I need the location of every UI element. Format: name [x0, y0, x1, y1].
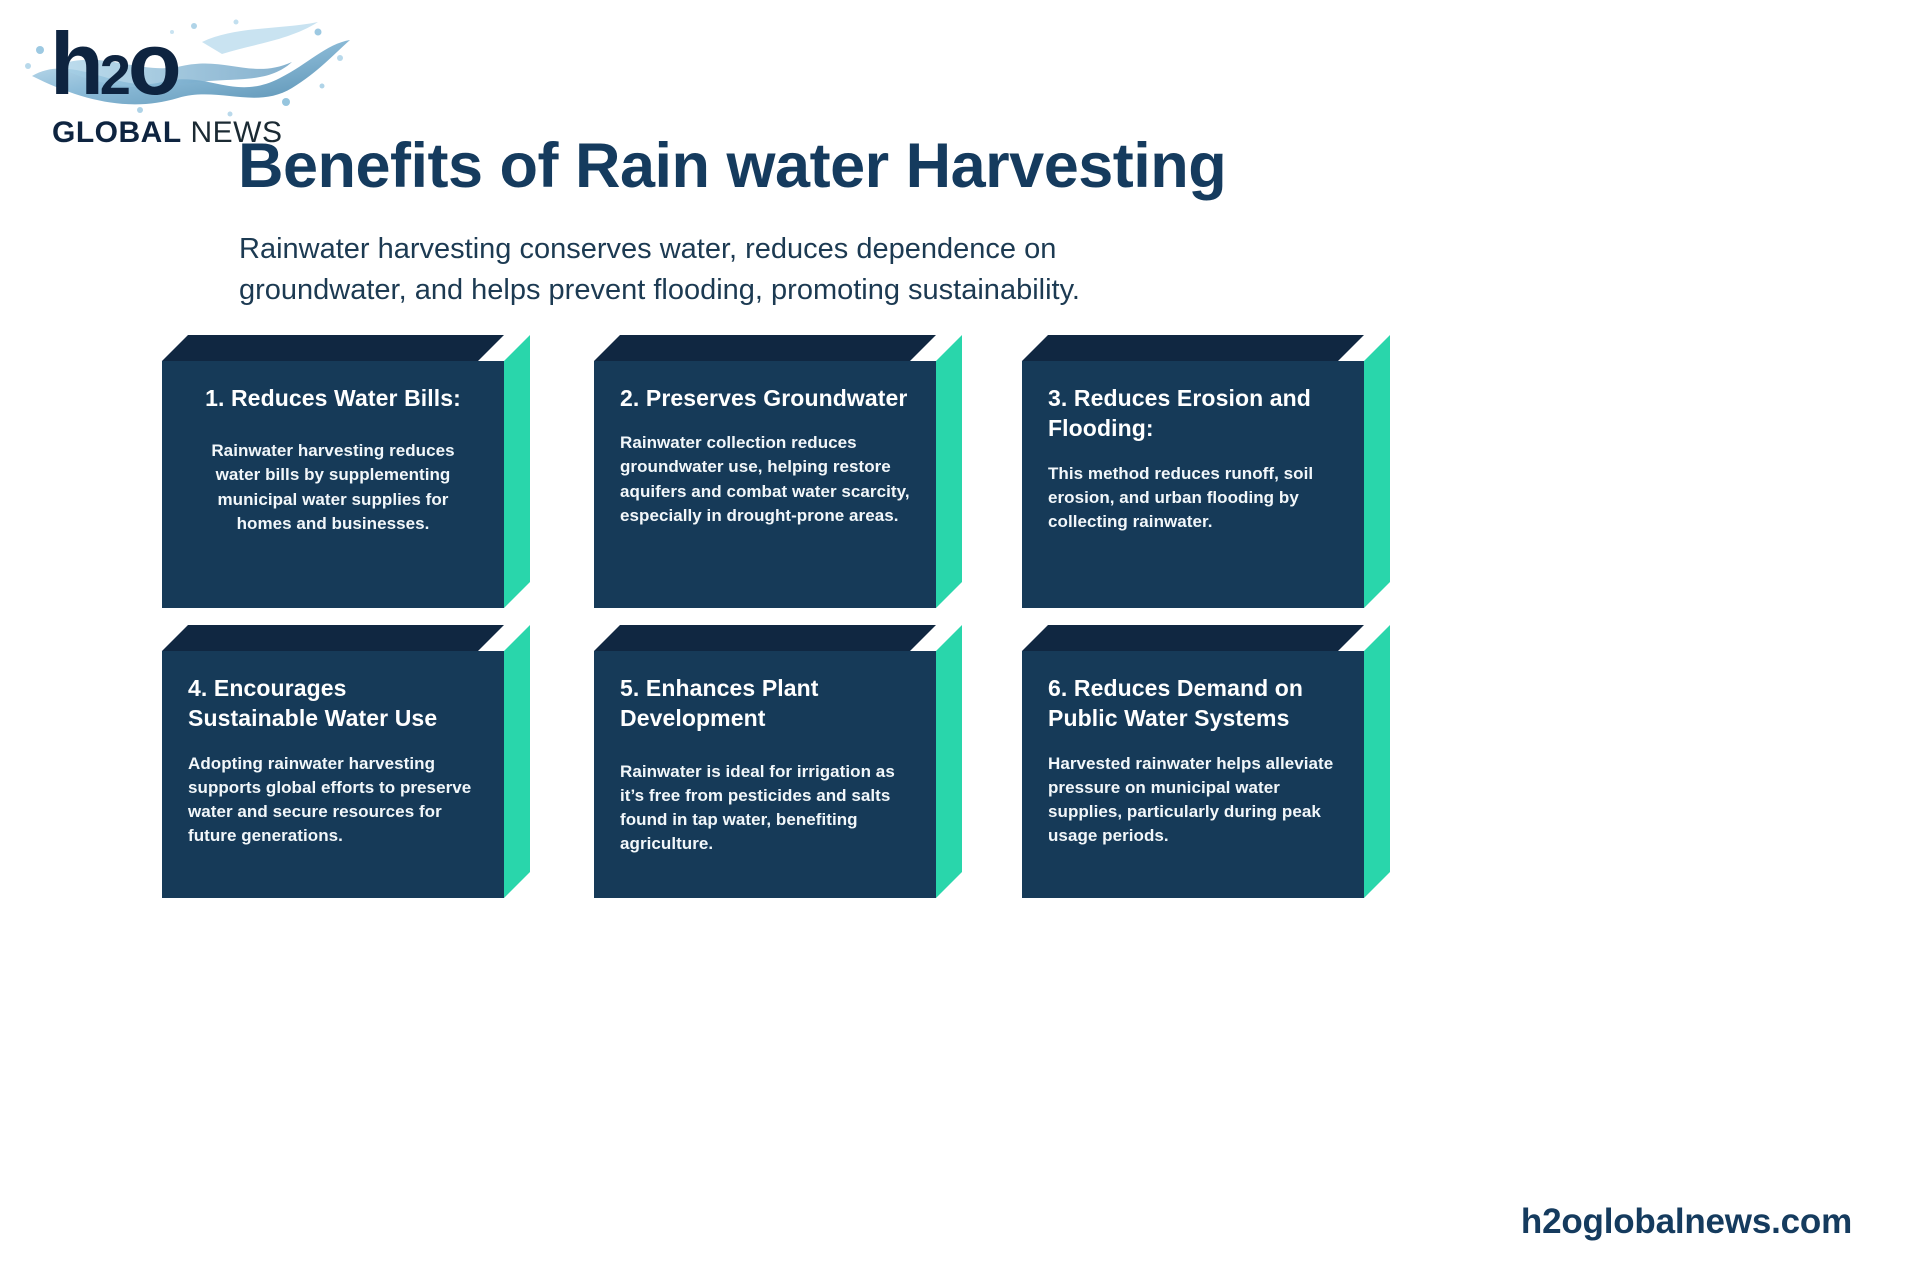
logo-letter-h: h	[50, 14, 100, 113]
card-side-accent	[504, 625, 530, 898]
card-top-bevel	[162, 335, 504, 361]
card-side-accent	[936, 625, 962, 898]
card-title: 2. Preserves Groundwater	[620, 383, 910, 413]
page-title: Benefits of Rain water Harvesting	[238, 131, 1488, 202]
card-title: 4. Encourages Sustainable Water Use	[188, 673, 478, 734]
card-body: Adopting rainwater harvesting supports g…	[188, 752, 478, 849]
card-face: 4. Encourages Sustainable Water Use Adop…	[162, 651, 504, 898]
card-top-bevel	[594, 625, 936, 651]
card-face: 3. Reduces Erosion and Flooding: This me…	[1022, 361, 1364, 608]
card-side-accent	[1364, 625, 1390, 898]
card-title: 1. Reduces Water Bills:	[188, 383, 478, 413]
card-top-bevel	[1022, 625, 1364, 651]
card-title: 3. Reduces Erosion and Flooding:	[1048, 383, 1338, 444]
card-side-accent	[504, 335, 530, 608]
card-body: Harvested rainwater helps alleviate pres…	[1048, 752, 1338, 849]
card-body: Rainwater is ideal for irrigation as it’…	[620, 760, 910, 857]
page-subtitle: Rainwater harvesting conserves water, re…	[239, 229, 1199, 311]
card-body: This method reduces runoff, soil erosion…	[1048, 462, 1338, 534]
card-side-accent	[1364, 335, 1390, 608]
card-face: 6. Reduces Demand on Public Water System…	[1022, 651, 1364, 898]
card-face: 2. Preserves Groundwater Rainwater colle…	[594, 361, 936, 608]
card-face: 1. Reduces Water Bills: Rainwater harves…	[162, 361, 504, 608]
card-side-accent	[936, 335, 962, 608]
logo-tagline-global: GLOBAL	[52, 116, 182, 149]
card-body: Rainwater harvesting reduces water bills…	[188, 439, 478, 536]
benefit-card: 3. Reduces Erosion and Flooding: This me…	[1022, 335, 1390, 608]
card-top-bevel	[1022, 335, 1364, 361]
benefit-card: 2. Preserves Groundwater Rainwater colle…	[594, 335, 962, 608]
card-top-bevel	[594, 335, 936, 361]
logo-letter-2: 2	[100, 43, 128, 106]
benefit-card: 5. Enhances Plant Development Rainwater …	[594, 625, 962, 898]
logo-letter-o: o	[128, 14, 178, 113]
infographic-page: h2o GLOBAL NEWS Benefits of Rain water H…	[0, 0, 1920, 1280]
card-face: 5. Enhances Plant Development Rainwater …	[594, 651, 936, 898]
benefit-card: 4. Encourages Sustainable Water Use Adop…	[162, 625, 530, 898]
benefit-card: 1. Reduces Water Bills: Rainwater harves…	[162, 335, 530, 608]
card-top-bevel	[162, 625, 504, 651]
logo-wordmark: h2o	[50, 20, 178, 108]
card-title: 6. Reduces Demand on Public Water System…	[1048, 673, 1338, 734]
card-title: 5. Enhances Plant Development	[620, 673, 910, 734]
benefit-card: 6. Reduces Demand on Public Water System…	[1022, 625, 1390, 898]
benefits-card-grid: 1. Reduces Water Bills: Rainwater harves…	[162, 335, 1412, 905]
card-body: Rainwater collection reduces groundwater…	[620, 431, 910, 528]
footer-website-url[interactable]: h2oglobalnews.com	[1521, 1202, 1852, 1242]
